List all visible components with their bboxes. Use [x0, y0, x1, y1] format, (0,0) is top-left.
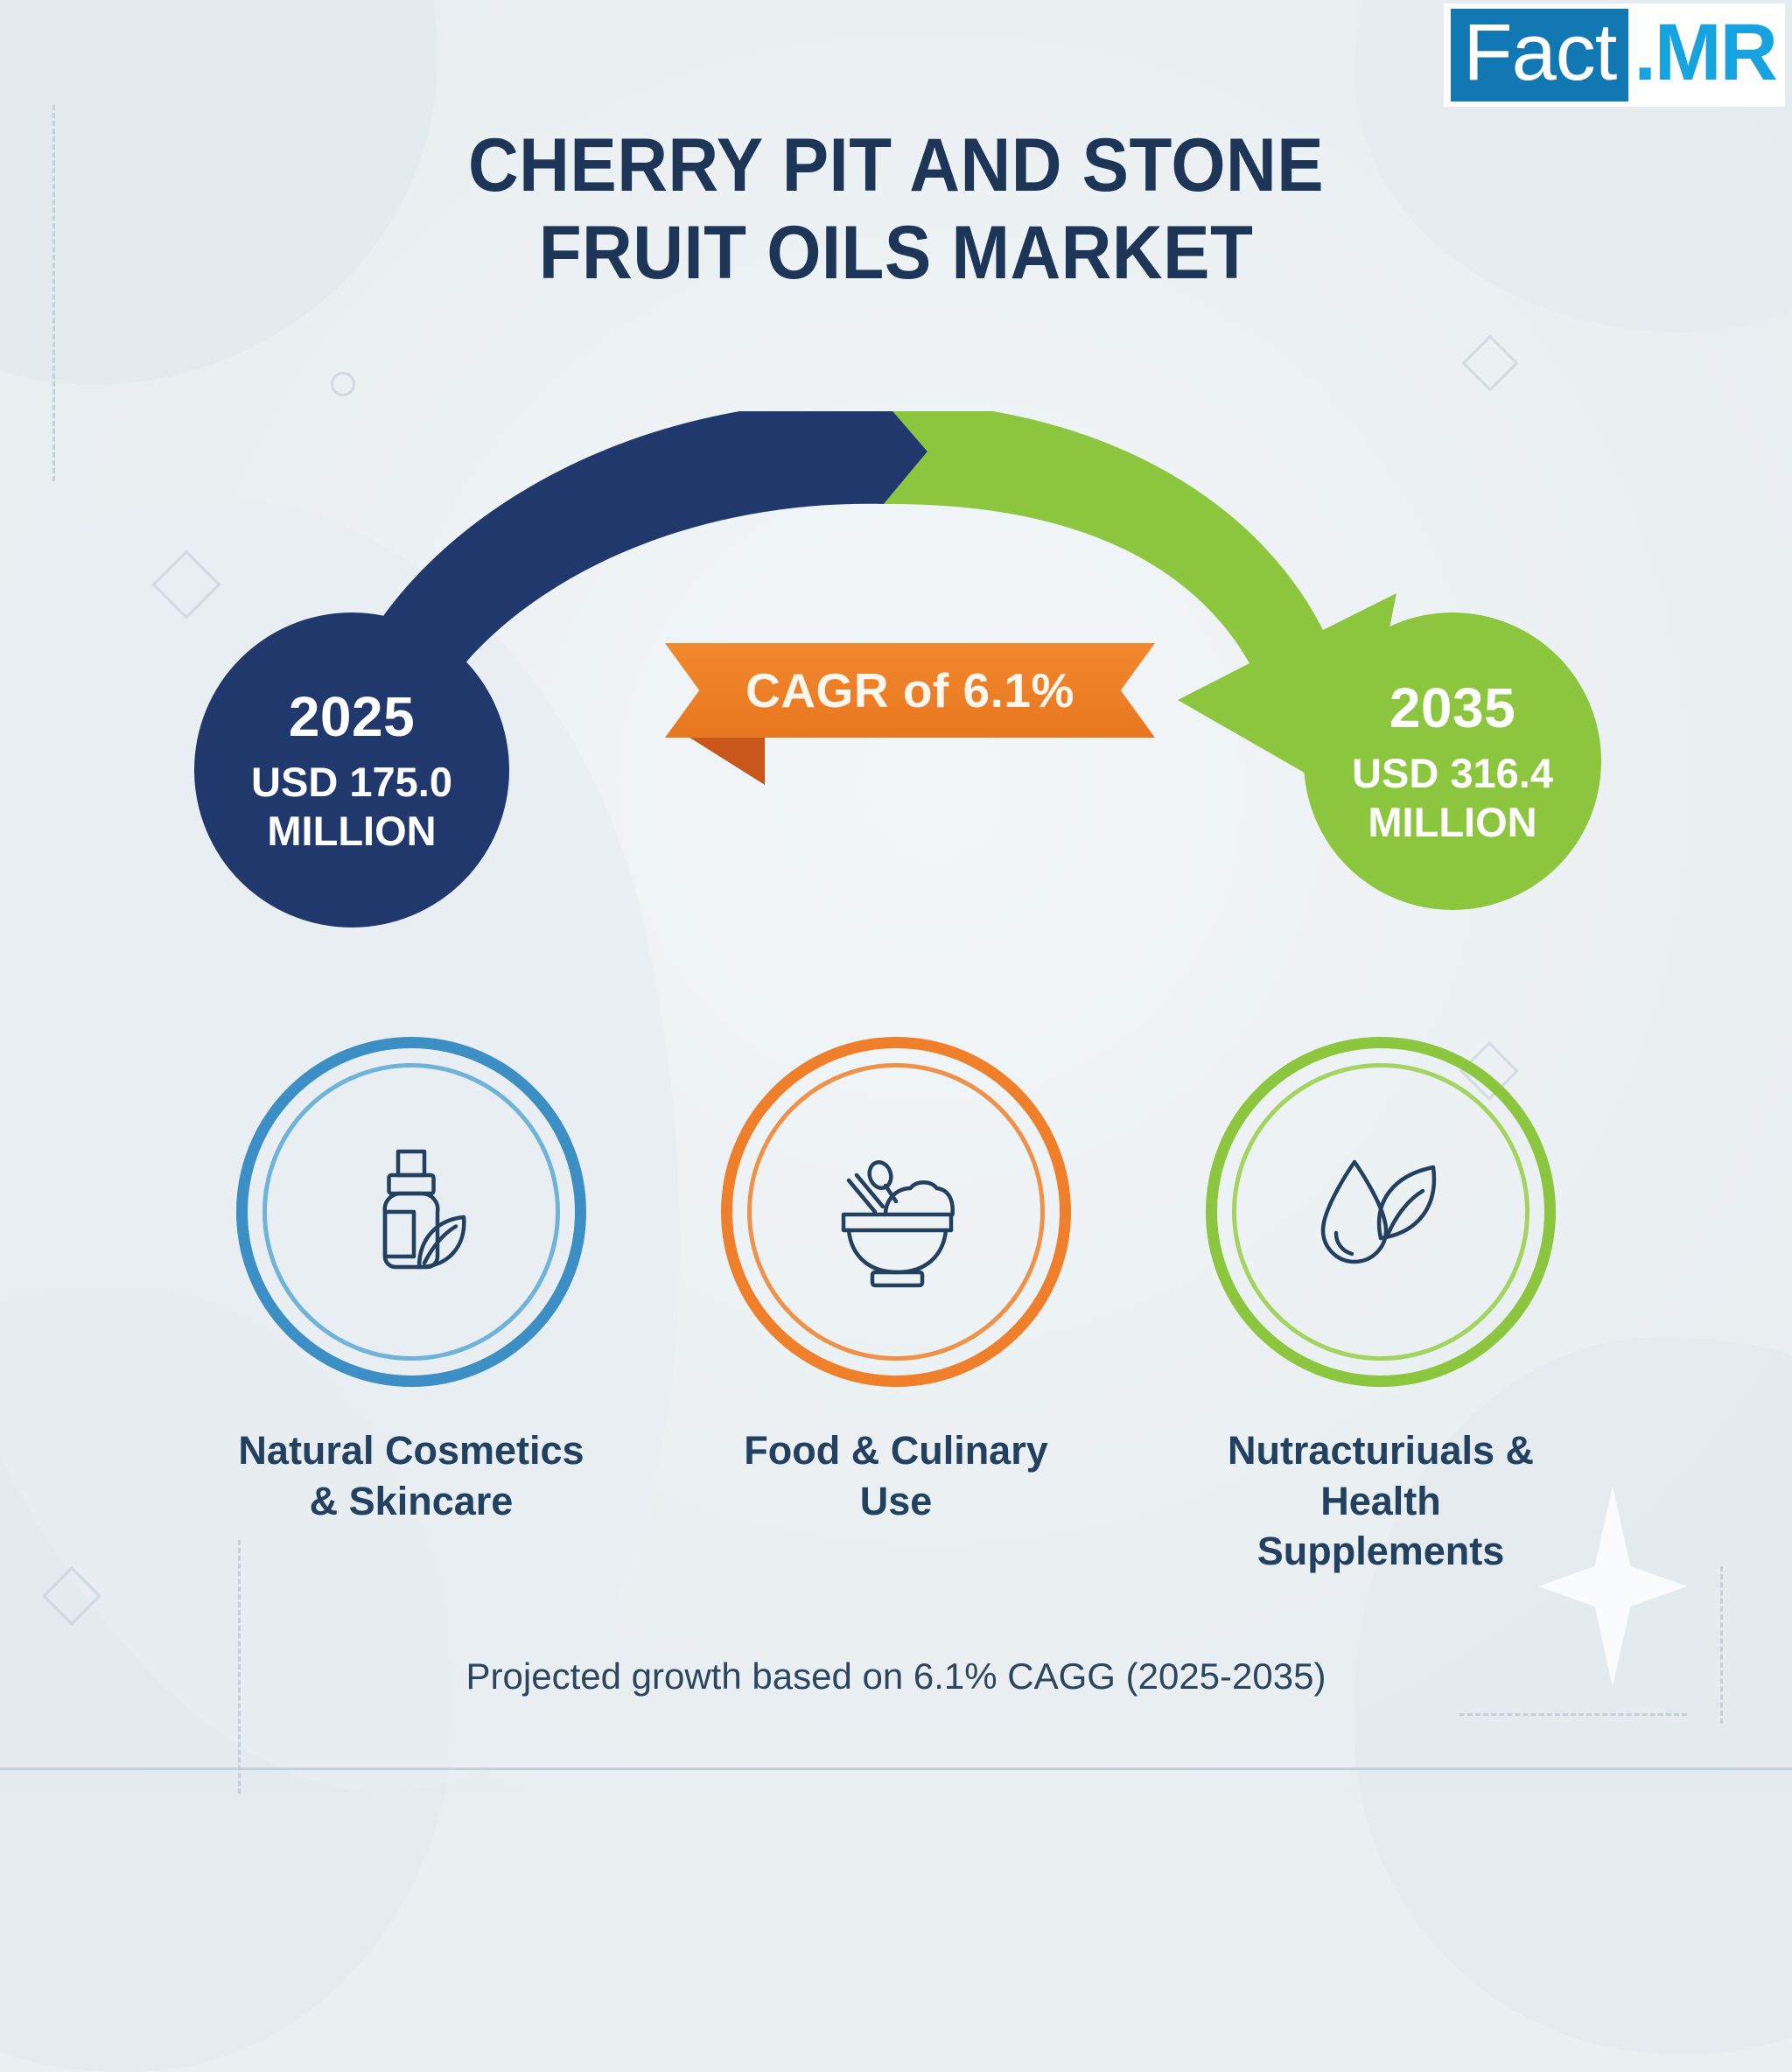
segment-label-line-1: Natural Cosmetics [238, 1425, 584, 1476]
bottom-rule [0, 1767, 1792, 1770]
segment-food-culinary[interactable]: Food & Culinary Use [708, 1037, 1084, 1577]
page-title-line-2: FRUIT OILS MARKET [63, 210, 1730, 297]
factmr-logo: Fact .MR [1444, 3, 1785, 107]
droplet-leaf-icon [1302, 1133, 1459, 1291]
segment-ring-inner [747, 1063, 1045, 1361]
segment-label-line-2: Health Supplements [1193, 1476, 1569, 1577]
segment-ring-outer [1206, 1037, 1556, 1387]
end-year-value-line-1: USD 316.4 [1352, 749, 1553, 798]
segment-label-nutraceuticals: Nutracturiuals & Health Supplements [1193, 1425, 1569, 1577]
end-year-value-line-2: MILLION [1352, 798, 1553, 847]
end-year-label: 2035 [1389, 675, 1515, 740]
segment-nutraceuticals[interactable]: Nutracturiuals & Health Supplements [1193, 1037, 1569, 1577]
segment-ring-inner [262, 1063, 560, 1361]
ribbon-band: CAGR of 6.1% [665, 643, 1155, 738]
page-title-line-1: CHERRY PIT AND STONE [63, 122, 1730, 210]
segment-ring-inner [1232, 1063, 1529, 1361]
end-year-bubble: 2035 USD 316.4 MILLION [1304, 612, 1601, 910]
segment-natural-cosmetics[interactable]: Natural Cosmetics & Skincare [223, 1037, 599, 1577]
start-year-bubble: 2025 USD 175.0 MILLION [194, 612, 509, 927]
cagr-ribbon: CAGR of 6.1% [665, 643, 1155, 738]
segment-label-natural-cosmetics: Natural Cosmetics & Skincare [238, 1425, 584, 1526]
dashed-line-horizontal [1459, 1713, 1687, 1716]
infographic-canvas: Fact .MR CHERRY PIT AND STONE FRUIT OILS… [0, 0, 1792, 1792]
diamond-decoration-3 [1461, 334, 1518, 391]
segment-label-line-1: Nutracturiuals & [1193, 1425, 1569, 1476]
segment-ring-outer [721, 1037, 1071, 1387]
footer-note: Projected growth based on 6.1% CAGG (202… [0, 1655, 1792, 1697]
segment-label-line-1: Food & Culinary Use [708, 1425, 1084, 1526]
start-year-value-line-2: MILLION [251, 807, 452, 856]
segment-ring-outer [236, 1037, 586, 1387]
start-year-label: 2025 [289, 684, 415, 749]
page-title: CHERRY PIT AND STONE FRUIT OILS MARKET [63, 122, 1730, 297]
cosmetic-bottle-leaf-icon [332, 1133, 490, 1291]
end-year-value: USD 316.4 MILLION [1352, 749, 1553, 848]
segment-list: Natural Cosmetics & Skincare [0, 1037, 1792, 1577]
cagr-label: CAGR of 6.1% [745, 662, 1074, 718]
start-year-value: USD 175.0 MILLION [251, 758, 452, 857]
start-year-value-line-1: USD 175.0 [251, 758, 452, 807]
food-bowl-cutlery-icon [817, 1133, 975, 1291]
dashed-line-bottom-right [1720, 1566, 1723, 1724]
segment-label-line-2: & Skincare [238, 1476, 584, 1527]
circle-decoration-1 [331, 372, 355, 396]
logo-mr-text: .MR [1628, 12, 1776, 98]
logo-fact-text: Fact [1451, 9, 1628, 101]
segment-label-food-culinary: Food & Culinary Use [708, 1425, 1084, 1526]
